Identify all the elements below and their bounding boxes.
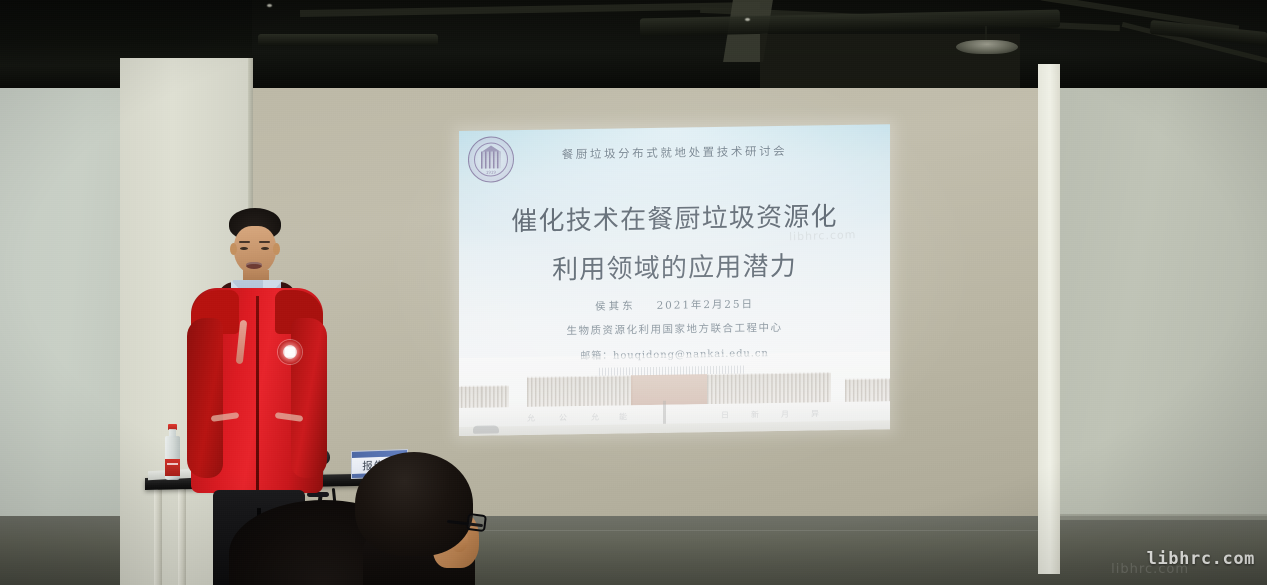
- campus-caption-8: 异: [811, 408, 820, 419]
- campus-car: [473, 425, 499, 433]
- campus-flagpole: [663, 401, 666, 425]
- slide-presenter-name: 侯其东: [595, 300, 636, 313]
- campus-caption-6: 新: [751, 409, 760, 420]
- speaker-brow-left: [239, 241, 250, 243]
- slide-campus-photo: 允 公 允 能 日 新 月 异: [459, 351, 890, 436]
- slide-affiliation: 生物质资源化利用国家地方联合工程中心: [459, 318, 890, 340]
- campus-caption-3: 允: [591, 412, 600, 423]
- slide-presenter-line: 侯其东 2021年2月25日: [459, 294, 890, 316]
- slide-presentation-date: 2021年2月25日: [657, 298, 754, 312]
- speaker-mouth: [246, 262, 262, 269]
- table-leg-left: [154, 488, 162, 585]
- speaker-brow-right: [259, 241, 270, 243]
- slide-faint-watermark: libhrc.com: [789, 228, 857, 243]
- baseboard: [1052, 514, 1267, 520]
- bottle-label: [165, 459, 180, 476]
- speaker-jacket-zipper: [256, 296, 259, 492]
- water-bottle: [165, 424, 180, 480]
- campus-caption-2: 公: [559, 412, 568, 423]
- glasses-lens-icon: [466, 513, 487, 532]
- speaker-arm-left: [187, 318, 223, 478]
- campus-building-left: [459, 385, 509, 408]
- campus-building-right: [845, 378, 890, 402]
- presentation-photo: 1919 餐厨垃圾分布式就地处置技术研讨会 催化技术在餐厨垃圾资源化 利用领域的…: [0, 0, 1267, 585]
- campus-caption-7: 月: [781, 409, 790, 420]
- campus-caption-4: 能: [619, 411, 628, 422]
- campus-building-center: [631, 374, 707, 405]
- ceiling-spot-glint-2: [745, 18, 750, 21]
- campus-building-main-left: [527, 375, 633, 407]
- slide-title: 催化技术在餐厨垃圾资源化 利用领域的应用潜力: [459, 193, 890, 296]
- campus-building-main-right: [707, 372, 831, 404]
- campus-caption-5: 日: [721, 410, 730, 421]
- slide-title-line-2: 利用领域的应用潜力: [459, 242, 890, 296]
- ceiling-pendant-light: [956, 40, 1018, 54]
- campus-caption-1: 允: [527, 413, 536, 424]
- right-wall: [1052, 82, 1267, 530]
- audience-head-right: [355, 452, 485, 585]
- speaker-eye-right: [261, 247, 269, 250]
- emblem-year: 1919: [475, 169, 507, 175]
- left-far-wall: [0, 56, 120, 585]
- speaker-ear-left: [230, 243, 237, 255]
- jacket-logo-badge: [278, 340, 302, 364]
- ceiling-spot-glint: [267, 4, 272, 7]
- speaker-eye-left: [240, 247, 248, 250]
- slide-conference-banner: 餐厨垃圾分布式就地处置技术研讨会: [459, 141, 890, 164]
- site-watermark: libhrc.com: [1147, 549, 1255, 569]
- projected-slide: 1919 餐厨垃圾分布式就地处置技术研讨会 催化技术在餐厨垃圾资源化 利用领域的…: [459, 124, 890, 436]
- ceiling-duct-left: [258, 34, 438, 46]
- speaker-ear-right: [273, 243, 280, 255]
- right-pillar: [1038, 64, 1060, 574]
